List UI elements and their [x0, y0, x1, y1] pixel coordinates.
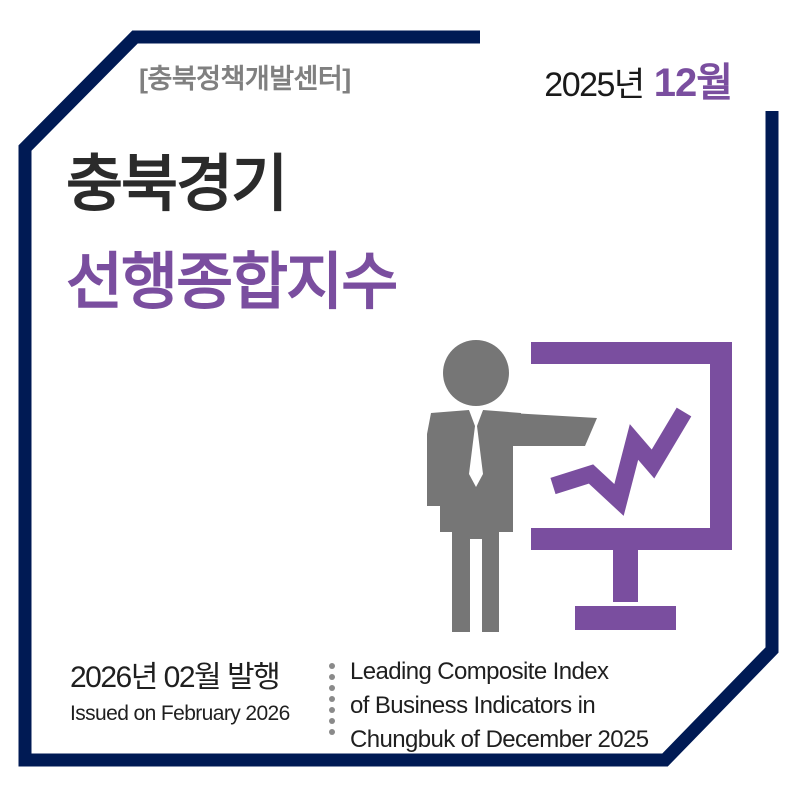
figure-pointing-arm	[511, 413, 597, 446]
board-stand-base	[575, 606, 676, 630]
page-title-line2: 선행종합지수	[66, 250, 396, 315]
divider-dot	[329, 663, 335, 669]
issue-date-korean: 2026년 02월 발행	[70, 660, 290, 695]
divider-dot	[329, 685, 335, 691]
issue-date-english: Issued on February 2026	[70, 701, 290, 727]
poster-root: [충북정책개발센터] 2025년 12월 충북경기 선행종합지수	[0, 0, 800, 800]
page-title-line1: 충북경기	[66, 152, 286, 217]
english-subtitle-block: Leading Composite Index of Business Indi…	[350, 655, 649, 757]
figure-head	[443, 340, 509, 406]
organization-tag: [충북정책개발센터]	[139, 57, 351, 96]
board-bottom-edge	[531, 528, 732, 550]
dotted-divider	[329, 663, 336, 735]
date-month-label: 12월	[654, 50, 732, 108]
date-year-label: 2025년	[544, 57, 643, 106]
board-top-edge	[531, 342, 732, 364]
english-subtitle-line: Chungbuk of December 2025	[350, 723, 649, 757]
issue-date-block: 2026년 02월 발행 Issued on February 2026	[70, 660, 290, 728]
publication-date: 2025년 12월	[544, 50, 732, 108]
divider-dot	[329, 696, 335, 702]
english-subtitle-line: Leading Composite Index	[350, 655, 649, 689]
divider-dot	[329, 674, 335, 680]
board-left-edge	[531, 342, 553, 364]
english-subtitle-line: of Business Indicators in	[350, 689, 649, 723]
board-right-edge	[710, 342, 732, 536]
presenter-with-chart-board-illustration	[425, 334, 745, 646]
divider-dot	[329, 707, 335, 713]
divider-dot	[329, 729, 335, 735]
divider-dot	[329, 718, 335, 724]
board-stand-post	[613, 550, 638, 602]
